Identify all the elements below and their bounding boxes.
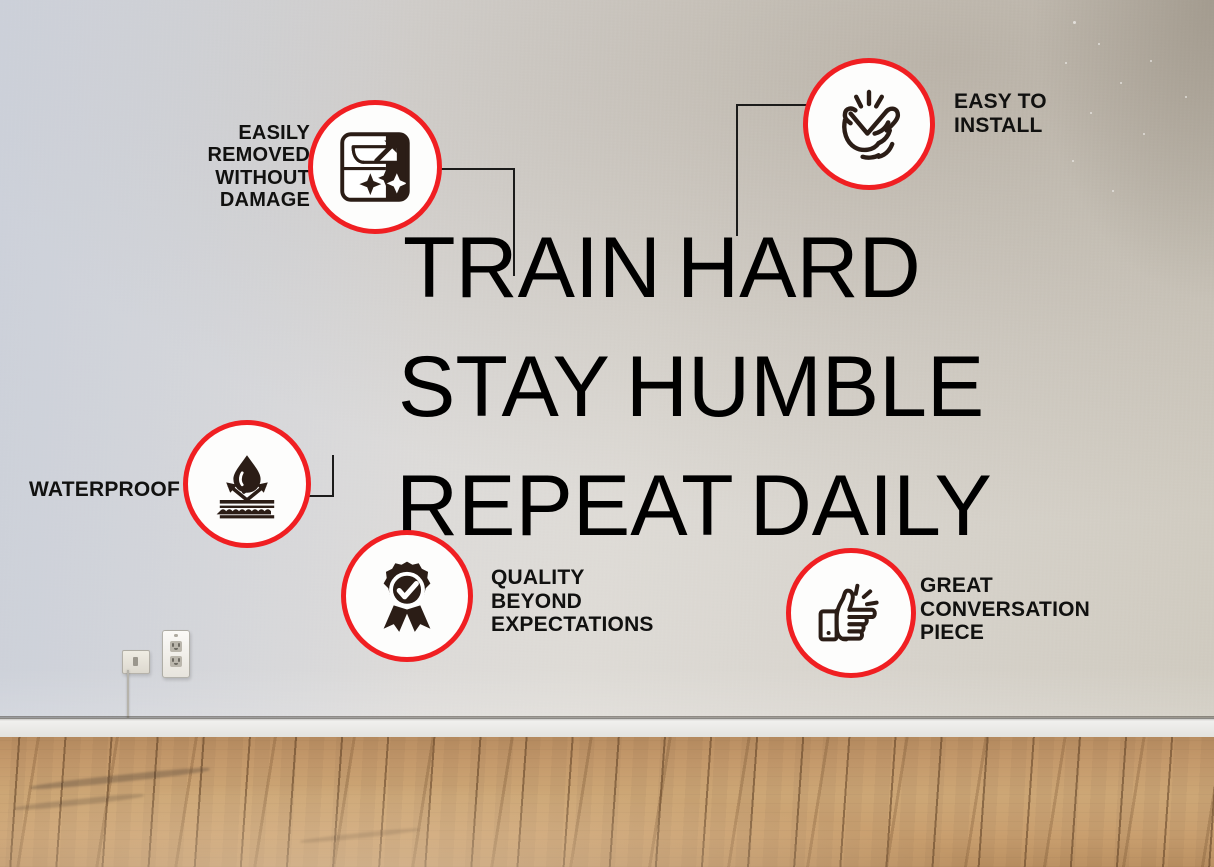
callout-line: DAMAGE	[170, 189, 310, 211]
callout-line: GREAT	[920, 574, 1160, 598]
wall-speck	[1185, 96, 1187, 98]
wall-speck	[1120, 82, 1122, 84]
badge-easy-to-install[interactable]	[803, 58, 935, 190]
callout-line: QUALITY	[491, 566, 711, 590]
wall-speck	[1150, 60, 1152, 62]
wall-speck	[1072, 160, 1074, 162]
callout-line: EASILY	[170, 122, 310, 144]
callout-line: REMOVED	[170, 144, 310, 166]
callout-conversation-piece: GREAT CONVERSATION PIECE	[920, 574, 1160, 645]
decal-line-3-light: DAILY	[750, 457, 992, 556]
wall-speck	[1065, 62, 1067, 64]
baseboard-shadow	[0, 716, 1214, 721]
callout-easily-removed: EASILY REMOVED WITHOUT DAMAGE	[170, 122, 310, 212]
phone-jack-hole	[133, 657, 138, 666]
floor-highlight	[0, 737, 1214, 867]
callout-line: BEYOND	[491, 590, 711, 614]
wall-speck	[1112, 190, 1114, 192]
callout-line: WITHOUT	[170, 167, 310, 189]
hardwood-floor	[0, 737, 1214, 867]
electrical-outlet	[162, 630, 190, 678]
callout-line: CONVERSATION	[920, 598, 1160, 622]
callout-line: PIECE	[920, 621, 1160, 645]
peel-sticker-sparkle-icon	[336, 128, 414, 206]
decal-line-2-bold: STAY	[398, 338, 610, 437]
badge-waterproof[interactable]	[183, 420, 311, 548]
wall-speck	[1098, 43, 1100, 45]
badge-easily-removed[interactable]	[308, 100, 442, 234]
wall-speck	[1143, 133, 1145, 135]
callout-line: WATERPROOF	[10, 478, 180, 502]
callout-line: EASY TO	[954, 90, 1114, 114]
outlet-screw	[174, 634, 178, 637]
connector-easily-removed	[430, 160, 530, 280]
callout-easy-to-install: EASY TO INSTALL	[954, 90, 1114, 137]
finger-snap-icon	[829, 84, 909, 164]
decal-line-2-light: HUMBLE	[626, 338, 984, 437]
decal-line-3-bold: REPEAT	[396, 457, 734, 556]
thumbs-up-point-icon	[811, 573, 891, 653]
outlet-top-receptacle	[170, 641, 182, 652]
decal-line-3: REPEAT DAILY	[396, 457, 992, 556]
badge-conversation-piece[interactable]	[786, 548, 916, 678]
decal-line-2: STAY HUMBLE	[398, 338, 984, 437]
product-photo-scene: TRAIN HARD STAY HUMBLE REPEAT DAILY EASI…	[0, 0, 1214, 867]
callout-quality: QUALITY BEYOND EXPECTATIONS	[491, 566, 711, 637]
callout-line: EXPECTATIONS	[491, 613, 711, 637]
badge-quality[interactable]	[341, 530, 473, 662]
wall-speck	[1073, 21, 1076, 24]
outlet-bottom-receptacle	[170, 656, 182, 667]
wall-corner-shadow	[954, 0, 1214, 430]
callout-waterproof: WATERPROOF	[10, 478, 180, 502]
callout-line: INSTALL	[954, 114, 1114, 138]
award-ribbon-check-icon	[368, 557, 446, 635]
water-droplet-repel-icon	[207, 444, 287, 524]
